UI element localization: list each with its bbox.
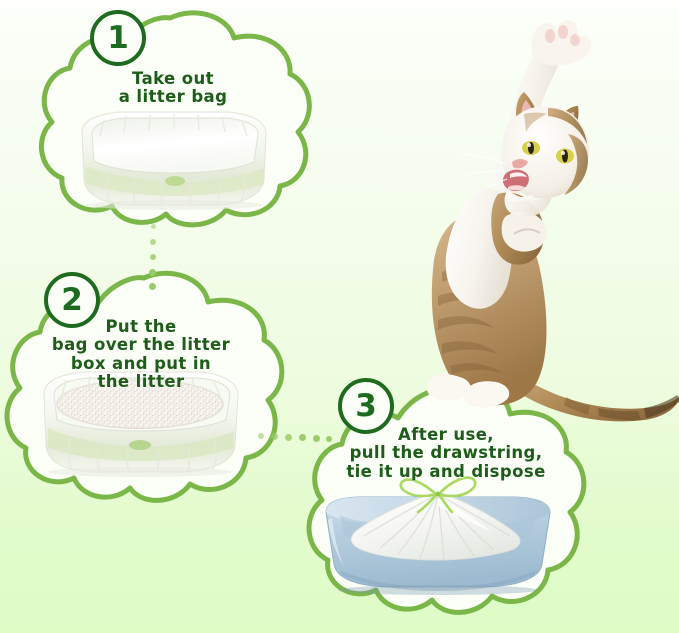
step-3-number: 3 xyxy=(355,391,377,422)
instruction-poster: 1 Take out a litter bag xyxy=(0,0,679,633)
step-1-number: 1 xyxy=(107,23,129,54)
step-1-number-badge: 1 xyxy=(90,10,146,66)
connector-dot xyxy=(150,239,156,245)
step-2-number: 2 xyxy=(61,285,83,316)
step-1-illustration xyxy=(68,104,278,214)
connector-dot xyxy=(271,433,278,440)
connector-dot xyxy=(258,433,264,439)
cat-head xyxy=(460,92,589,201)
step-2: 2 Put the bag over the litter box and pu… xyxy=(0,268,292,518)
blue-tray-tied-bag-art xyxy=(318,474,558,598)
step-1: 1 Take out a litter bag xyxy=(20,8,320,228)
step-2-caption: Put the bag over the litter box and put … xyxy=(10,318,272,392)
step-3-caption: After use, pull the drawstring, tie it u… xyxy=(310,426,582,481)
cat-photo xyxy=(398,8,679,428)
connector-dot xyxy=(151,224,156,229)
white-litter-bag-art xyxy=(68,104,278,214)
connector-dot xyxy=(299,434,306,441)
cat-illustration xyxy=(398,8,679,428)
step-3-illustration xyxy=(318,474,558,598)
step-3-number-badge: 3 xyxy=(338,378,394,434)
step-2-number-badge: 2 xyxy=(44,272,100,328)
connector-dot xyxy=(149,283,156,290)
connector-dot xyxy=(285,434,292,441)
connector-dot xyxy=(150,254,156,260)
step-1-caption: Take out a litter bag xyxy=(58,70,288,107)
connector-dot xyxy=(149,269,156,276)
connector-step1-to-step2 xyxy=(145,222,165,294)
